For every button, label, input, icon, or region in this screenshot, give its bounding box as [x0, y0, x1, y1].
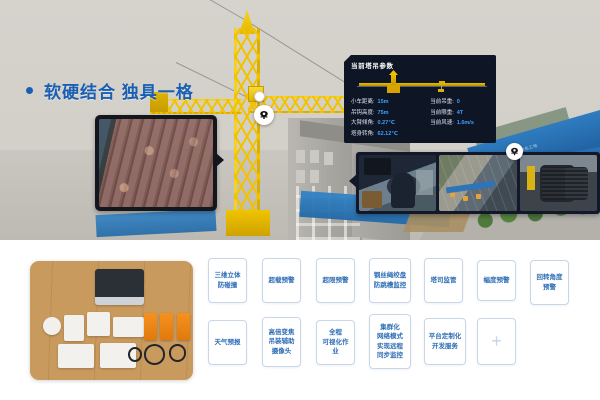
cable-drum-secondary — [565, 167, 588, 199]
bullet-icon — [26, 87, 33, 94]
feature-tag[interactable]: 钢丝绳绞盘 防跳槽监控 — [369, 258, 411, 303]
feature-tag[interactable]: 集群化 网络模式 实现远程 同步监控 — [369, 314, 411, 369]
feed-operator-cabin[interactable] — [359, 155, 436, 211]
dome-camera — [43, 317, 61, 335]
param-row: 塔身转角: 62.12℃ — [351, 129, 426, 137]
param-row: 吊钩高度: 75m — [351, 108, 426, 116]
terminal-box — [113, 317, 144, 337]
monitor-preview-card[interactable] — [95, 115, 217, 211]
param-value: 15m — [378, 99, 389, 105]
feature-section: 三维立体 防碰撞 超载预警 超限预警 钢丝绳绞盘 防跳槽监控 塔司监管 幅度预警… — [0, 240, 600, 400]
crane-parameters-panel: 当前塔吊参数 小车距离: 15m 吊钩高度: — [344, 55, 496, 143]
controller-box — [87, 312, 110, 336]
feature-tag[interactable]: 高倍变焦 吊装辅助 摄像头 — [262, 317, 301, 367]
param-label: 当前吊重: — [430, 97, 454, 105]
panel-column-right: 当前吊重: 0 当前限重: 4T 当前风速: 1.6m/s — [430, 97, 490, 137]
param-value: 75m — [378, 110, 389, 116]
feature-tag[interactable]: 天气预报 — [208, 320, 247, 365]
camera-marker-feeds[interactable] — [506, 143, 523, 160]
terminal-box — [58, 344, 94, 368]
feed-aerial-site[interactable] — [439, 155, 516, 211]
cabin-console — [364, 158, 392, 175]
site-marker — [450, 192, 455, 197]
site-marker — [476, 194, 481, 199]
winch-frame — [527, 166, 535, 190]
param-row: 当前风速: 1.6m/s — [430, 118, 490, 126]
schematic-track — [357, 86, 487, 87]
crane-base — [226, 210, 270, 236]
feature-tag[interactable]: 三维立体 防碰撞 — [208, 258, 247, 303]
scene-illustration: 中建 安全文明施工 标准化工地 — [0, 0, 600, 240]
feature-tag[interactable]: 平台定制化 开发服务 — [424, 318, 466, 365]
sensor-marker-mast[interactable] — [254, 91, 265, 102]
param-label: 当前限重: — [430, 108, 454, 116]
sensor-module — [160, 313, 173, 339]
crane-mast — [234, 28, 260, 236]
tablet-device — [95, 269, 144, 305]
feed-winch-drum[interactable] — [520, 155, 597, 211]
cable-coil — [128, 347, 143, 362]
cable-coil — [144, 344, 165, 364]
feature-tag-grid: 三维立体 防碰撞 超载预警 超限预警 钢丝绳绞盘 防跳槽监控 塔司监管 幅度预警… — [205, 256, 595, 386]
site-marker — [463, 196, 468, 201]
schematic-load — [387, 85, 400, 93]
feature-tag[interactable]: 塔司监管 — [424, 258, 463, 303]
param-value: 1.6m/s — [457, 120, 474, 126]
param-label: 大臂倾角: — [351, 118, 375, 126]
page-title-text: 软硬结合 独具一格 — [44, 78, 194, 103]
param-value: 4T — [457, 110, 463, 116]
schematic-hook — [438, 89, 444, 92]
schematic-boom — [359, 83, 485, 86]
param-value: 0 — [457, 99, 460, 105]
param-row: 当前限重: 4T — [430, 108, 490, 116]
param-label: 当前风速: — [430, 118, 454, 126]
page-title: 软硬结合 独具一格 — [26, 78, 194, 103]
feature-tag[interactable]: 幅度预警 — [477, 260, 516, 301]
feature-tag[interactable]: 全程 可视化作业 — [316, 320, 355, 365]
crane-tie-cable — [156, 0, 247, 21]
schematic-trolley — [439, 81, 445, 85]
sensor-module — [144, 313, 157, 339]
camera-marker-jib[interactable] — [254, 105, 274, 125]
crane-schematic — [351, 72, 490, 94]
add-feature-tag-button[interactable]: + — [477, 318, 516, 365]
panel-column-left: 小车距离: 15m 吊钩高度: 75m 大臂倾角: 0.27℃ 塔身转角: 62… — [351, 97, 426, 137]
cabin-controls — [362, 191, 382, 208]
param-label: 小车距离: — [351, 97, 375, 105]
feature-tag[interactable]: 超载预警 — [262, 258, 301, 303]
param-row: 小车距离: 15m — [351, 97, 426, 105]
aerial-site-view-screenshot — [99, 119, 213, 207]
callout-tail — [216, 153, 224, 167]
camera-feed-strip — [356, 152, 600, 214]
param-label: 吊钩高度: — [351, 108, 375, 116]
param-value: 0.27℃ — [378, 120, 395, 126]
panel-title: 当前塔吊参数 — [351, 60, 490, 70]
cabin-window — [416, 170, 433, 196]
callout-tail — [349, 174, 357, 188]
feature-tag[interactable]: 超限预警 — [316, 258, 355, 303]
param-value: 62.12℃ — [378, 131, 398, 137]
param-row: 大臂倾角: 0.27℃ — [351, 118, 426, 126]
controller-box — [64, 315, 84, 341]
param-label: 塔身转角: — [351, 129, 375, 137]
feature-tag[interactable]: 回转角度 预警 — [530, 260, 569, 305]
slide-root: 中建 安全文明施工 标准化工地 — [0, 0, 600, 400]
param-row: 当前吊重: 0 — [430, 97, 490, 105]
hardware-photo — [30, 261, 193, 380]
sensor-module — [177, 313, 190, 339]
cable-coil — [169, 344, 187, 362]
panel-rows: 小车距离: 15m 吊钩高度: 75m 大臂倾角: 0.27℃ 塔身转角: 62… — [351, 97, 490, 137]
